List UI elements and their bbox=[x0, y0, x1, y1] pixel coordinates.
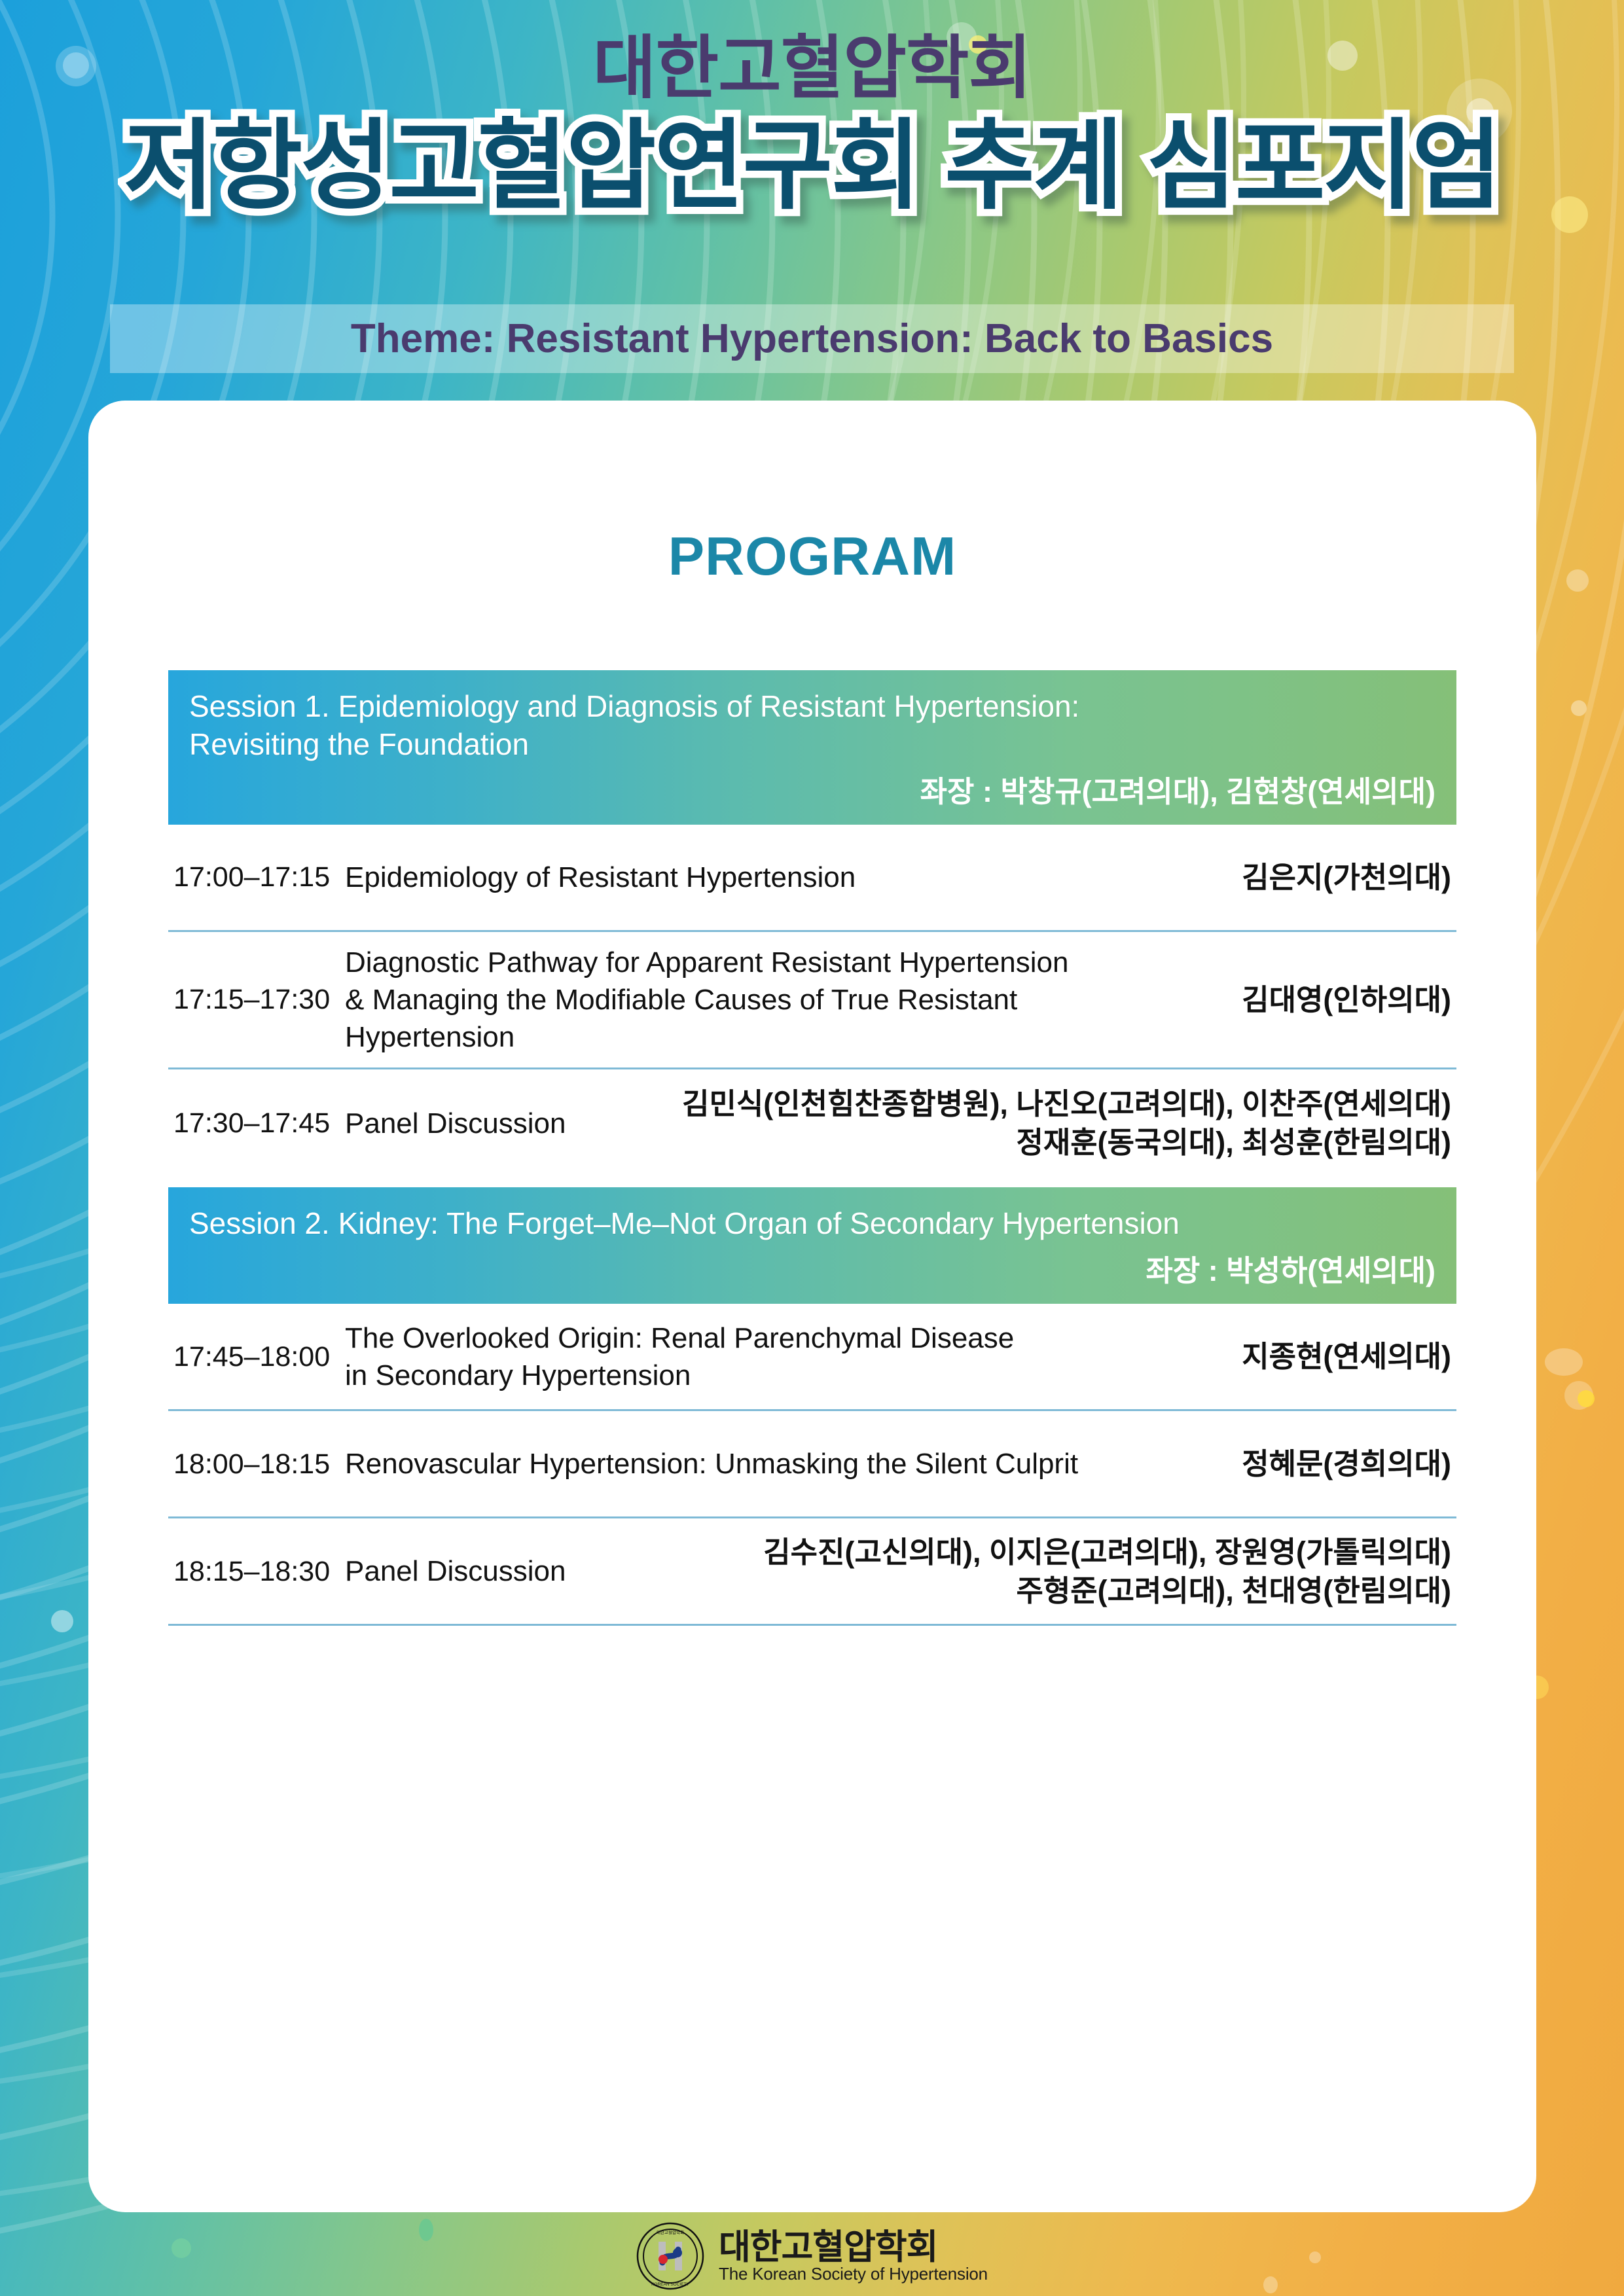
row-topic: Epidemiology of Resistant Hypertension bbox=[345, 859, 1170, 896]
svg-text:KOREAN SOCIETY: KOREAN SOCIETY bbox=[651, 2282, 689, 2287]
session-title: Session 2. Kidney: The Forget–Me–Not Org… bbox=[189, 1205, 1435, 1243]
bokeh-circle bbox=[1571, 700, 1587, 716]
program-table: Session 1. Epidemiology and Diagnosis of… bbox=[168, 670, 1456, 1626]
table-row: 17:30–17:45 Panel Discussion 김민식(인천힘찬종합병… bbox=[168, 1069, 1456, 1177]
session-chair: 좌장 : 박성하(연세의대) bbox=[189, 1247, 1435, 1289]
program-card: PROGRAM Session 1. Epidemiology and Diag… bbox=[88, 401, 1536, 2212]
row-topic: Panel Discussion bbox=[345, 1105, 682, 1142]
poster-header: 대한고혈압학회 저항성고혈압연구회 추계 심포지엄 Theme: Resista… bbox=[0, 0, 1624, 406]
bokeh-circle bbox=[1545, 1348, 1583, 1376]
bokeh-circle bbox=[1578, 1390, 1595, 1407]
row-topic: Panel Discussion bbox=[345, 1552, 763, 1590]
session-header-1: Session 1. Epidemiology and Diagnosis of… bbox=[168, 670, 1456, 825]
row-time: 17:45–18:00 bbox=[173, 1340, 345, 1374]
program-heading: PROGRAM bbox=[88, 525, 1536, 588]
session-chair: 좌장 : 박창규(고려의대), 김현창(연세의대) bbox=[189, 768, 1435, 810]
row-time: 17:00–17:15 bbox=[173, 861, 345, 894]
row-time: 17:30–17:45 bbox=[173, 1107, 345, 1140]
footer-text-block: 대한고혈압학회 The Korean Society of Hypertensi… bbox=[719, 2229, 988, 2283]
society-name: 대한고혈압학회 bbox=[0, 31, 1624, 105]
table-row: 17:15–17:30 Diagnostic Pathway for Appar… bbox=[168, 932, 1456, 1070]
page-title: 저항성고혈압연구회 추계 심포지엄 bbox=[0, 112, 1624, 220]
footer-society-en: The Korean Society of Hypertension bbox=[719, 2265, 988, 2283]
society-emblem-icon: 대한고혈압학회 KOREAN SOCIETY bbox=[636, 2222, 704, 2290]
svg-text:대한고혈압학회: 대한고혈압학회 bbox=[657, 2229, 684, 2235]
spacer bbox=[168, 1177, 1456, 1187]
footer-logo: 대한고혈압학회 KOREAN SOCIETY 대한고혈압학회 The Korea… bbox=[0, 2216, 1624, 2296]
row-speaker: 김대영(인하의대) bbox=[1170, 980, 1451, 1019]
row-topic: Diagnostic Pathway for Apparent Resistan… bbox=[345, 944, 1170, 1056]
row-speaker: 김수진(고신의대), 이지은(고려의대), 장원영(가톨릭의대) 주형준(고려의… bbox=[763, 1533, 1451, 1611]
session-title: Session 1. Epidemiology and Diagnosis of… bbox=[189, 688, 1435, 764]
row-time: 18:00–18:15 bbox=[173, 1448, 345, 1481]
row-speaker: 지종현(연세의대) bbox=[1170, 1337, 1451, 1376]
table-row: 17:00–17:15 Epidemiology of Resistant Hy… bbox=[168, 825, 1456, 932]
row-time: 18:15–18:30 bbox=[173, 1555, 345, 1588]
session-header-2: Session 2. Kidney: The Forget–Me–Not Org… bbox=[168, 1187, 1456, 1304]
row-time: 17:15–17:30 bbox=[173, 983, 345, 1016]
table-row: 17:45–18:00 The Overlooked Origin: Renal… bbox=[168, 1304, 1456, 1411]
bokeh-circle bbox=[51, 1610, 73, 1632]
table-row: 18:15–18:30 Panel Discussion 김수진(고신의대), … bbox=[168, 1518, 1456, 1626]
row-speaker: 정혜문(경희의대) bbox=[1170, 1444, 1451, 1483]
row-speaker: 김은지(가천의대) bbox=[1170, 858, 1451, 897]
theme-text: Theme: Resistant Hypertension: Back to B… bbox=[0, 308, 1624, 370]
bokeh-circle bbox=[1566, 569, 1589, 592]
row-speaker: 김민식(인천힘찬종합병원), 나진오(고려의대), 이찬주(연세의대) 정재훈(… bbox=[682, 1085, 1451, 1162]
row-topic: The Overlooked Origin: Renal Parenchymal… bbox=[345, 1319, 1170, 1394]
table-row: 18:00–18:15 Renovascular Hypertension: U… bbox=[168, 1411, 1456, 1518]
footer-society-kr: 대한고혈압학회 bbox=[719, 2229, 988, 2265]
row-topic: Renovascular Hypertension: Unmasking the… bbox=[345, 1445, 1170, 1482]
